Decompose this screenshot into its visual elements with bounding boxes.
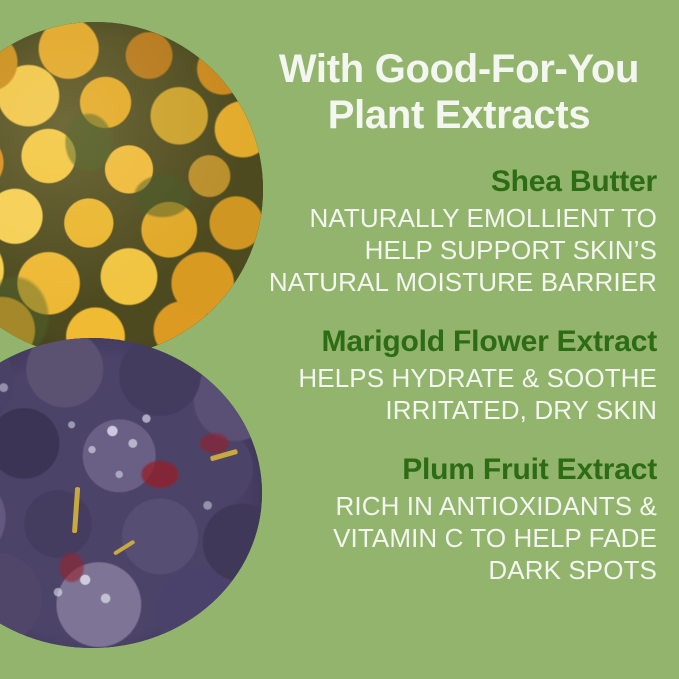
product-benefits-poster: With Good-For-You Plant Extracts Shea Bu… — [0, 0, 679, 679]
ingredient-description-line: DARK SPOTS — [261, 554, 657, 586]
ingredient-description-line: NATURALLY EMOLLIENT TO — [261, 202, 657, 234]
page-title-line-2: Plant Extracts — [328, 93, 591, 137]
ingredient-description-line: HELP SUPPORT SKIN’S — [261, 234, 657, 266]
ingredient-description-line: NATURAL MOISTURE BARRIER — [261, 266, 657, 298]
ingredient-description-line: RICH IN ANTIOXIDANTS & — [261, 490, 657, 522]
plum-stem-icon — [209, 449, 237, 462]
ingredient-description-shea-butter: NATURALLY EMOLLIENT TO HELP SUPPORT SKIN… — [261, 202, 657, 298]
ingredient-description-line: IRRITATED, DRY SKIN — [261, 394, 657, 426]
ingredient-description-line: HELPS HYDRATE & SOOTHE — [261, 362, 657, 394]
ingredient-description-marigold-flower-extract: HELPS HYDRATE & SOOTHE IRRITATED, DRY SK… — [261, 362, 657, 426]
ingredient-name-plum-fruit-extract: Plum Fruit Extract — [261, 452, 657, 488]
plum-stem-icon — [72, 487, 80, 533]
marigold-flowers-photo — [0, 22, 263, 357]
text-column: With Good-For-You Plant Extracts Shea Bu… — [261, 0, 657, 679]
plum-stem-icon — [113, 540, 135, 556]
plums-photo — [0, 338, 262, 648]
ingredient-name-marigold-flower-extract: Marigold Flower Extract — [261, 324, 657, 360]
ingredient-description-line: VITAMIN C TO HELP FADE — [261, 522, 657, 554]
ingredient-block-marigold-flower-extract: Marigold Flower Extract HELPS HYDRATE & … — [261, 324, 657, 426]
marigold-photo-art — [0, 22, 263, 357]
ingredient-block-shea-butter: Shea Butter NATURALLY EMOLLIENT TO HELP … — [261, 164, 657, 298]
page-title-line-1: With Good-For-You — [279, 47, 639, 91]
plums-photo-art — [0, 338, 262, 648]
ingredient-description-plum-fruit-extract: RICH IN ANTIOXIDANTS & VITAMIN C TO HELP… — [261, 490, 657, 586]
ingredient-name-shea-butter: Shea Butter — [261, 164, 657, 200]
ingredient-block-plum-fruit-extract: Plum Fruit Extract RICH IN ANTIOXIDANTS … — [261, 452, 657, 586]
page-title: With Good-For-You Plant Extracts — [261, 0, 657, 138]
